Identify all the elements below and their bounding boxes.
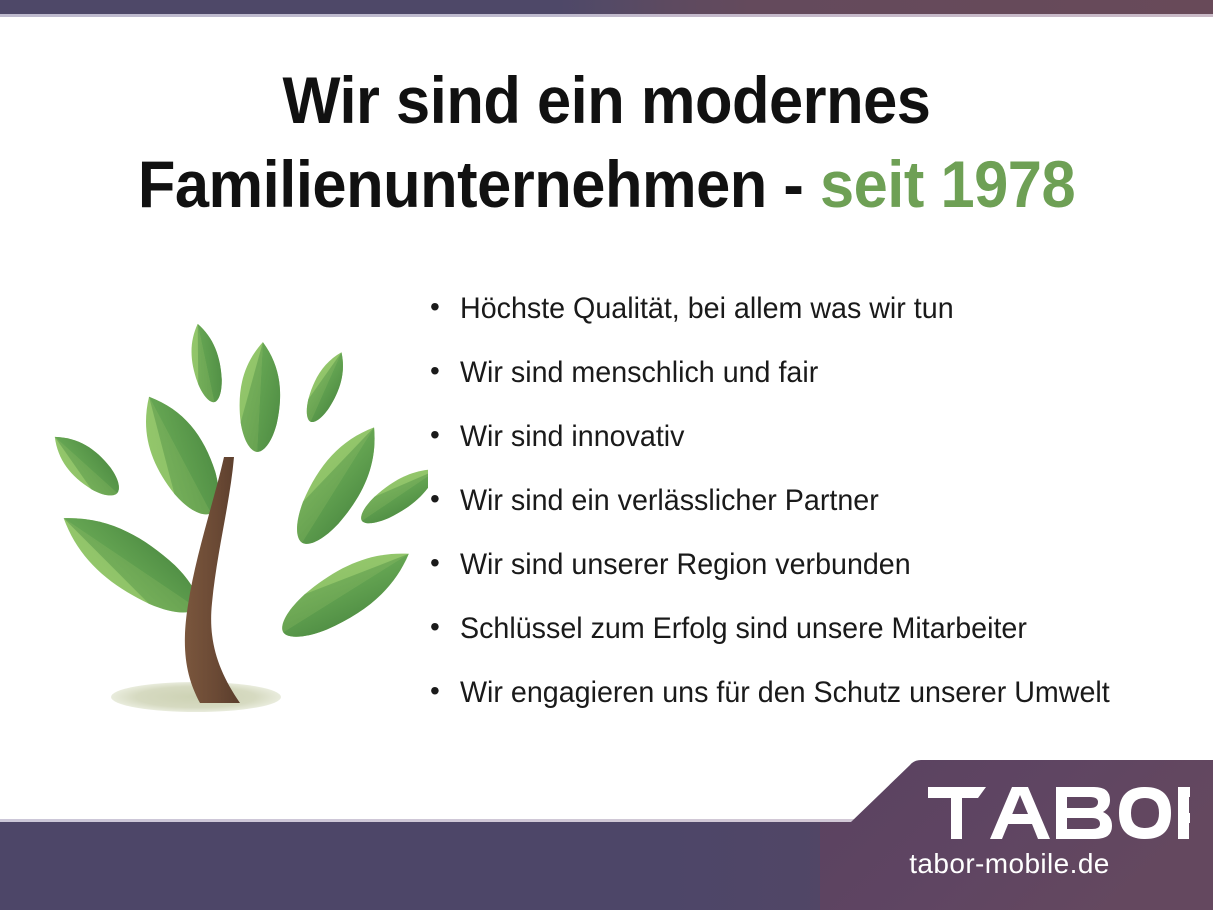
page-title-accent: seit 1978 [820,147,1075,221]
tabor-wordmark-icon [928,787,1190,839]
list-item: • Wir sind innovativ [430,420,1210,484]
tree-icon [28,305,428,725]
top-accent-bar-edge [0,14,1213,17]
bullet-icon: • [430,677,460,705]
bullet-icon: • [430,421,460,449]
values-list: • Höchste Qualität, bei allem was wir tu… [430,292,1210,740]
list-item-label: Wir sind ein verlässlicher Partner [460,484,879,518]
logo-url[interactable]: tabor-mobile.de [820,848,1213,880]
list-item: • Wir sind menschlich und fair [430,356,1210,420]
brand-logo[interactable]: tabor-mobile.de [820,760,1213,910]
tree-illustration [28,305,428,725]
list-item-label: Wir sind innovativ [460,420,684,454]
bullet-icon: • [430,485,460,513]
list-item: • Wir sind unserer Region verbunden [430,548,1210,612]
bullet-icon: • [430,293,460,321]
top-accent-bar [0,0,1213,14]
slide-canvas: Wir sind ein modernes Familienunternehme… [0,0,1213,910]
tree-leaves [44,321,428,652]
page-title: Wir sind ein modernes Familienunternehme… [42,58,1170,226]
list-item-label: Höchste Qualität, bei allem was wir tun [460,292,954,326]
list-item: • Wir engagieren uns für den Schutz unse… [430,676,1210,740]
list-item: • Schlüssel zum Erfolg sind unsere Mitar… [430,612,1210,676]
list-item: • Höchste Qualität, bei allem was wir tu… [430,292,1210,356]
list-item-label: Wir sind menschlich und fair [460,356,818,390]
list-item-label: Wir engagieren uns für den Schutz unsere… [460,676,1110,710]
list-item: • Wir sind ein verlässlicher Partner [430,484,1210,548]
list-item-label: Schlüssel zum Erfolg sind unsere Mitarbe… [460,612,1027,646]
page-title-line-2-main: Familienunternehmen - [138,147,820,221]
bullet-icon: • [430,613,460,641]
list-item-label: Wir sind unserer Region verbunden [460,548,911,582]
bullet-icon: • [430,357,460,385]
page-title-line-2: Familienunternehmen - seit 1978 [42,142,1170,226]
page-title-line-1: Wir sind ein modernes [42,58,1170,142]
bullet-icon: • [430,549,460,577]
